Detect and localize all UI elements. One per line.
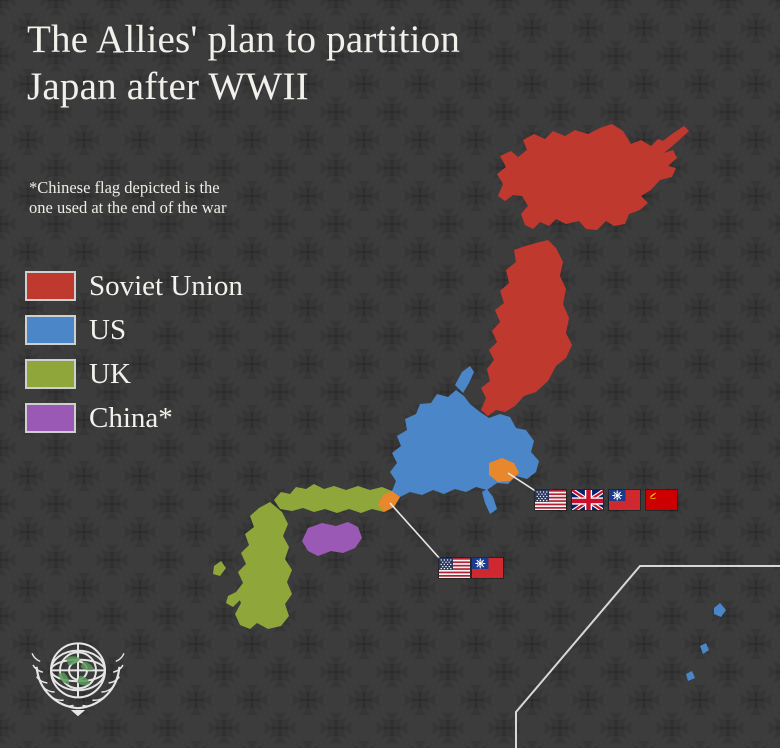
ryukyu-inset-outline	[516, 566, 780, 748]
callout-line-kansai	[390, 503, 441, 560]
island-okinawa	[714, 603, 726, 617]
us-flag	[438, 557, 471, 579]
legend-item-soviet-union: Soviet Union	[25, 268, 243, 304]
region-shikoku	[302, 522, 362, 556]
china-roc-flag	[471, 557, 504, 579]
uk-flag	[571, 489, 604, 511]
page-title: The Allies' plan to partition Japan afte…	[27, 16, 460, 110]
region-hokkaido	[497, 124, 677, 230]
region-noto-peninsula	[455, 366, 474, 393]
legend-label-china: China*	[89, 403, 173, 433]
footnote-text: *Chinese flag depicted is the one used a…	[29, 178, 226, 218]
legend-swatch-uk	[25, 359, 76, 389]
callout-tokyo-flags	[534, 489, 678, 511]
island-amami	[700, 643, 709, 654]
china-roc-flag	[608, 489, 641, 511]
legend-item-us: US	[25, 312, 243, 348]
region-goto-islands	[213, 561, 226, 576]
callout-kansai-flags	[438, 557, 504, 579]
legend-swatch-china	[25, 403, 76, 433]
legend-label-us: US	[89, 315, 126, 345]
region-central-honshu	[390, 390, 539, 497]
legend: Soviet Union US UK China*	[25, 268, 243, 444]
region-northern-honshu	[481, 240, 572, 416]
region-hokkaido-tip	[655, 126, 689, 153]
legend-label-uk: UK	[89, 359, 131, 389]
region-izu-peninsula	[482, 489, 497, 514]
legend-item-china: China*	[25, 400, 243, 436]
region-kyushu	[235, 502, 292, 629]
legend-swatch-soviet-union	[25, 271, 76, 301]
un-emblem	[24, 620, 132, 728]
region-western-honshu	[274, 484, 400, 513]
legend-label-soviet-union: Soviet Union	[89, 271, 243, 301]
island-miyako	[686, 671, 695, 681]
soviet-union-flag	[645, 489, 678, 511]
us-flag	[534, 489, 567, 511]
legend-swatch-us	[25, 315, 76, 345]
legend-item-uk: UK	[25, 356, 243, 392]
